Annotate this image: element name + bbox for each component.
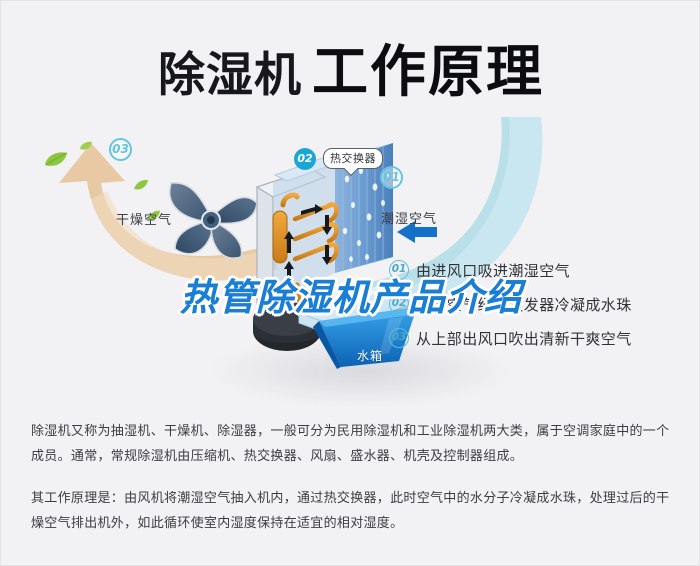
moist-air-label: 潮湿空气	[381, 208, 437, 227]
water-tank-label: 水箱	[357, 347, 383, 364]
leaf-icon	[79, 137, 93, 156]
poster-canvas: 除湿机工作原理	[0, 0, 700, 566]
overlay-title: 热管除湿机产品介绍	[1, 267, 700, 321]
legend-text-03: 从上部出风口吹出清新干爽空气	[416, 328, 632, 349]
badge-03-dry-air: 03	[109, 138, 132, 161]
page-title-part2: 工作原理	[312, 40, 544, 105]
leaf-icon	[43, 151, 69, 173]
description-paragraph-2: 其工作原理是：由风机将潮湿空气抽入机内，通过热交换器，此时空气中的水分子冷凝成水…	[31, 486, 675, 536]
legend-badge-03: 03	[389, 328, 409, 348]
badge-01-moist-air: 01	[380, 166, 403, 189]
list-item: 03 从上部出风口吹出清新干爽空气	[389, 321, 689, 355]
page-title: 除湿机工作原理	[1, 27, 700, 108]
heat-exchanger-callout: 热交换器	[323, 148, 383, 169]
description-paragraph-1: 除湿机又称为抽湿机、干燥机、除湿器，一般可分为民用除湿机和工业除湿机两大类，属于…	[31, 419, 675, 469]
page-title-part1: 除湿机	[158, 48, 302, 103]
dry-air-label: 干燥空气	[116, 209, 172, 228]
leaf-icon	[133, 177, 149, 196]
badge-02-heat-exchanger: 02	[294, 148, 316, 170]
